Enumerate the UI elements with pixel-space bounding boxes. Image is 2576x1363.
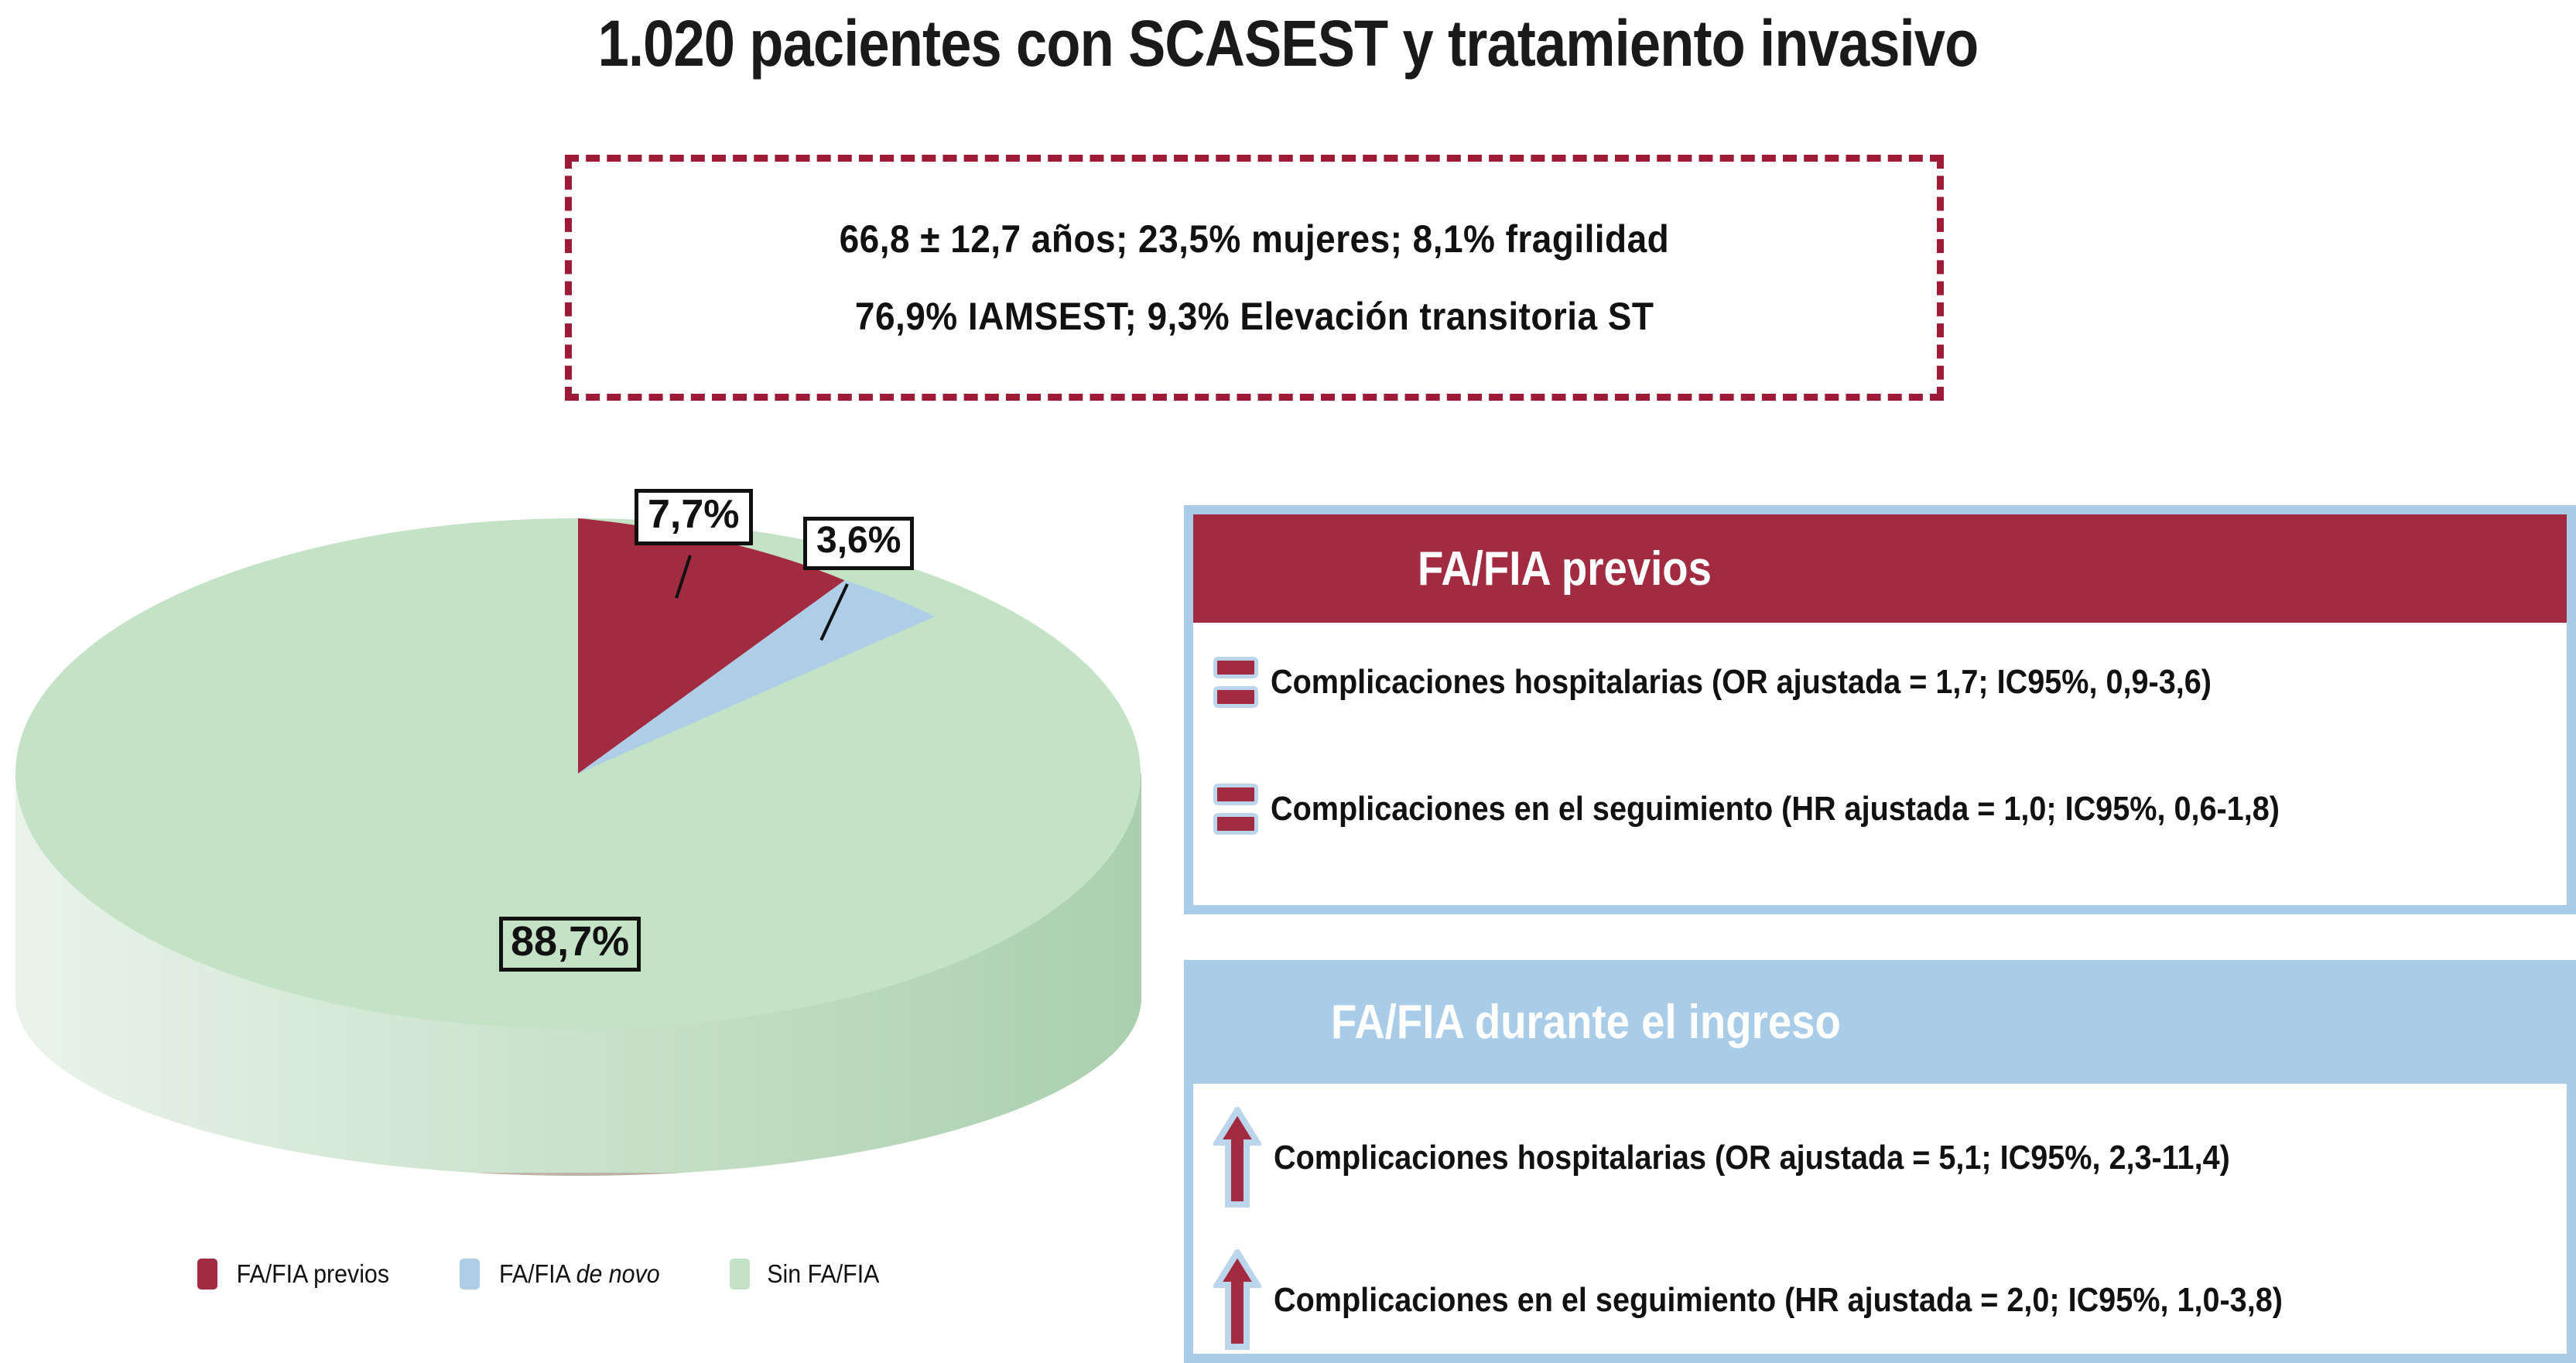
demographics-line-1: 66,8 ± 12,7 años; 23,5% mujeres; 8,1% fr… [840, 217, 1670, 261]
stat-text: Complicaciones en el seguimiento (HR aju… [1271, 790, 2280, 828]
pie-legend: FA/FIA previos FA/FIA de novo Sin FA/FIA [197, 1259, 884, 1290]
legend-label-fafia-de-novo: FA/FIA de novo [499, 1259, 660, 1289]
list-item: Complicaciones hospitalarias (OR ajustad… [1213, 1107, 2567, 1209]
panel-header-fa-fia-previos: FA/FIA previos [1193, 514, 2567, 623]
demographics-box: 66,8 ± 12,7 años; 23,5% mujeres; 8,1% fr… [565, 155, 1944, 401]
legend-item-fafia-previos: FA/FIA previos [197, 1259, 396, 1290]
list-item: Complicaciones en el seguimiento (HR aju… [1213, 776, 2567, 842]
panel-header-title: FA/FIA previos [1418, 541, 1712, 596]
legend-label-sin-fafia: Sin FA/FIA [768, 1259, 880, 1289]
panel-fa-fia-previos: FA/FIA previos Complicaciones hospitalar… [1184, 505, 2576, 914]
pie-label-fafia-de-novo: 3,6% [803, 517, 914, 570]
panel-body-fa-fia-previos: Complicaciones hospitalarias (OR ajustad… [1193, 623, 2567, 842]
panel-body-fa-fia-durante-el-ingreso: Complicaciones hospitalarias (OR ajustad… [1193, 1084, 2567, 1351]
list-item: Complicaciones en el seguimiento (HR aju… [1213, 1249, 2567, 1351]
pie-label-fafia-previos: 7,7% [635, 489, 753, 545]
stat-text: Complicaciones en el seguimiento (HR aju… [1274, 1281, 2283, 1320]
panel-fa-fia-durante-el-ingreso: FA/FIA durante el ingreso Complicaciones… [1184, 969, 2576, 1363]
arrow-up-icon [1213, 1249, 1261, 1351]
legend-swatch-blue [460, 1259, 480, 1290]
panel-header-fa-fia-durante-el-ingreso: FA/FIA durante el ingreso [1184, 960, 2576, 1084]
stat-text: Complicaciones hospitalarias (OR ajustad… [1271, 663, 2212, 702]
stat-text: Complicaciones hospitalarias (OR ajustad… [1274, 1139, 2230, 1177]
pie-chart-graphic [8, 518, 1145, 1292]
legend-item-sin-fafia: Sin FA/FIA [730, 1259, 884, 1290]
arrow-up-icon [1213, 1107, 1261, 1209]
legend-label-fafia-previos: FA/FIA previos [237, 1259, 389, 1289]
demographics-line-2: 76,9% IAMSEST; 9,3% Elevación transitori… [855, 294, 1654, 339]
list-item: Complicaciones hospitalarias (OR ajustad… [1213, 649, 2567, 716]
equals-icon [1213, 776, 1258, 842]
page-title: 1.020 pacientes con SCASEST y tratamient… [180, 6, 2396, 81]
legend-swatch-green [730, 1259, 750, 1290]
equals-icon [1213, 649, 1258, 716]
pie-label-sin-fafia: 88,7% [499, 917, 641, 972]
panel-header-title: FA/FIA durante el ingreso [1331, 995, 1841, 1050]
legend-item-fafia-de-novo: FA/FIA de novo [460, 1259, 667, 1290]
legend-swatch-red [197, 1259, 217, 1290]
